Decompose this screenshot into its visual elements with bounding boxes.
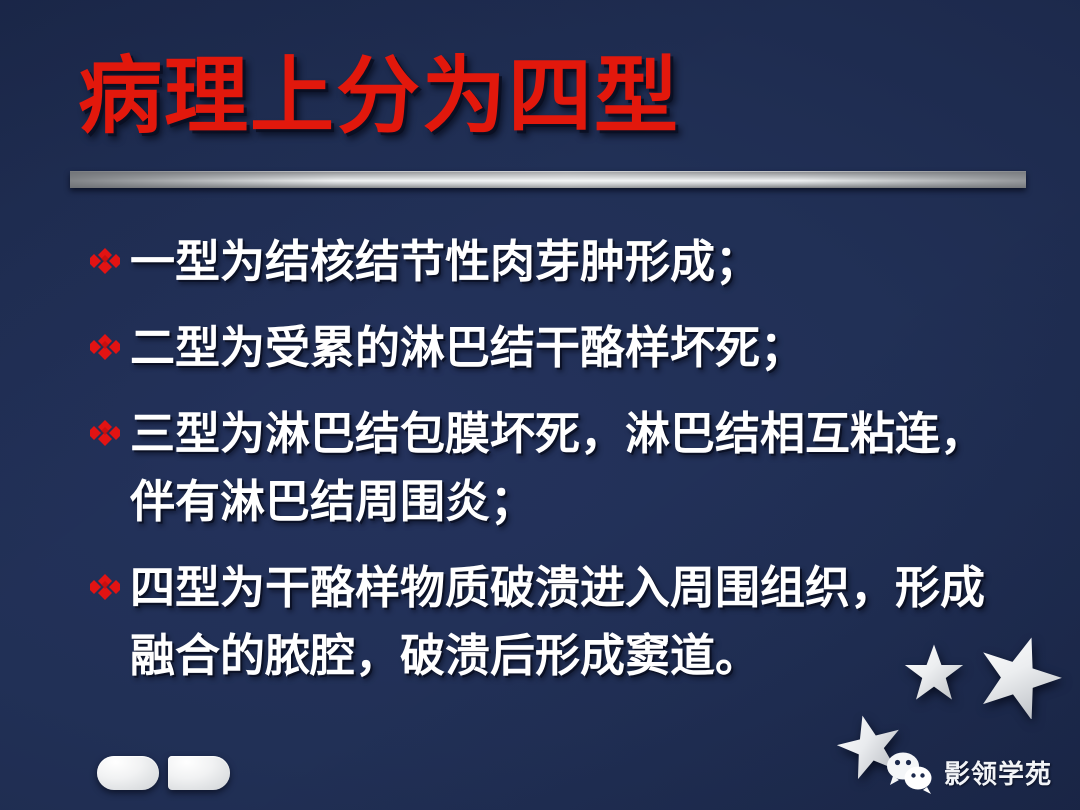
wechat-logo-icon [884, 750, 936, 794]
list-item-text: 四型为干酪样物质破溃进入周围组织，形成融合的脓腔，破溃后形成窦道。 [130, 554, 1010, 690]
list-item-text: 二型为受累的淋巴结干酪样坏死； [130, 314, 1010, 382]
bullet-list: 一型为结核结节性肉芽肿形成； 二型为受累的淋巴结干酪样坏死； [90, 228, 1010, 708]
diamond-cluster-bullet-icon [90, 572, 120, 602]
list-item: 二型为受累的淋巴结干酪样坏死； [90, 314, 1010, 382]
diamond-cluster-bullet-icon [90, 332, 120, 362]
diamond-cluster-bullet-icon [90, 418, 120, 448]
presentation-slide: 病理上分为四型 一型为结核结节性肉芽肿形成； [0, 0, 1080, 810]
capsule-shape [168, 756, 230, 790]
list-item-text: 一型为结核结节性肉芽肿形成； [130, 228, 1010, 296]
list-item-text: 三型为淋巴结包膜坏死，淋巴结相互粘连，伴有淋巴结周围炎； [130, 400, 1010, 536]
list-item: 四型为干酪样物质破溃进入周围组织，形成融合的脓腔，破溃后形成窦道。 [90, 554, 1010, 690]
watermark-label: 影领学苑 [944, 754, 1052, 791]
capsule-shape [97, 756, 159, 790]
title-divider-bar [70, 171, 1026, 188]
wechat-watermark: 影领学苑 [884, 750, 1052, 794]
slide-decoration-capsules [97, 756, 230, 790]
list-item: 三型为淋巴结包膜坏死，淋巴结相互粘连，伴有淋巴结周围炎； [90, 400, 1010, 536]
diamond-cluster-bullet-icon [90, 246, 120, 276]
list-item: 一型为结核结节性肉芽肿形成； [90, 228, 1010, 296]
slide-title: 病理上分为四型 [78, 42, 1038, 154]
